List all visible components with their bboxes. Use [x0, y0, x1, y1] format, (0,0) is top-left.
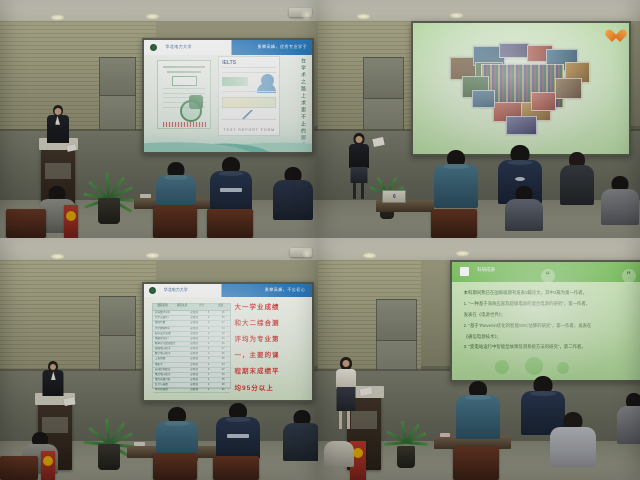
cert-subtitle-line [167, 71, 200, 73]
red-flag-banner [64, 205, 78, 238]
slide-header-university: 华北电力大学 [165, 44, 191, 50]
desk-papers [140, 194, 151, 198]
cell-course: 自动控制理论 [153, 368, 187, 372]
cell-credit: 2 [201, 388, 216, 392]
cell-credit: 4 [201, 337, 216, 341]
cell-credit: 5 [201, 311, 216, 315]
audience-chair [6, 209, 46, 238]
ceiling [318, 238, 640, 262]
cell-score: 96 [216, 337, 231, 341]
nameplate-number: 6 [393, 194, 396, 200]
col-header-type: 课程性质 [172, 304, 191, 310]
cell-course: 信号与系统 [153, 383, 187, 387]
hood-collar [530, 391, 556, 396]
photo-collage: 华北电力大学 勇攀高峰，优秀专业学子 [0, 0, 640, 480]
audience-torso [617, 406, 640, 444]
quote-line: 2. "基于Thevenin优化的智能SOC估算的研究"，第一作者，发表在 [464, 323, 636, 330]
audience-member [550, 412, 596, 480]
speaker-face [355, 136, 362, 143]
potted-plant [386, 376, 426, 468]
cert-barcode [163, 122, 206, 127]
cert-name-box [172, 76, 197, 86]
cell-score: 97 [216, 368, 231, 372]
wall-door-panel [376, 299, 417, 342]
hood-collar [164, 175, 188, 180]
highlight-line: 均95分以上 [235, 382, 306, 392]
hood-collar [465, 395, 491, 400]
doc-highlight-bar [222, 77, 247, 86]
hood-collar [164, 421, 189, 426]
speaker-shirt [336, 369, 356, 389]
collage-photo [555, 78, 582, 99]
plant-pot [98, 444, 120, 470]
cell-type: 必修课 [187, 373, 202, 377]
cell-credit: 3 [201, 352, 216, 356]
desk-papers [134, 442, 145, 446]
cell-score: 97 [216, 321, 231, 325]
hood-collar [443, 164, 469, 169]
speaker-male [45, 105, 71, 167]
bubble [557, 362, 569, 374]
ceiling-light [363, 253, 376, 258]
speaker-skirt [337, 387, 356, 411]
col-header-course: 课程名称 [153, 304, 172, 310]
collage-photo [531, 92, 556, 111]
desk-papers [440, 433, 450, 437]
cell-course: 工程制图 [153, 357, 187, 361]
slide-highlight-text: 大一学业成绩 和大二综合测 评均为专业第 一，主要的课 程期末成绩平 均95分以… [235, 301, 306, 392]
speaker-face [343, 360, 350, 367]
cell-type: 必修课 [187, 368, 202, 372]
audience-torso [550, 427, 596, 467]
speaker-face [54, 108, 61, 115]
speaker-male [41, 361, 65, 419]
cell-score: 95 [216, 378, 231, 382]
doc-rule [222, 67, 275, 68]
cell-score: 96 [216, 311, 231, 315]
cell-credit: 4 [201, 316, 216, 320]
cell-score: 98 [216, 332, 231, 336]
slide-header-tag: 勇攀高峰，优秀专业学子 [257, 44, 307, 50]
grade-table: 课程名称 课程性质 学分 成绩 高等数学A(1)必修课596 大学英语(1)必修… [152, 303, 232, 389]
cell-score: 95 [216, 357, 231, 361]
cell-credit: 4 [201, 378, 216, 382]
cell-type: 必修课 [187, 337, 202, 341]
photo-top-left: 华北电力大学 勇攀高峰，优秀专业学子 [0, 0, 318, 238]
banner-emblem-icon [353, 448, 363, 458]
cell-course: 程序设计基础 [153, 332, 187, 336]
cell-type: 选修课 [187, 388, 202, 392]
audience-member [560, 152, 594, 238]
panel-bottom-left: 华北电力大学 勇攀高峰，不忘初心 课程名称 课程性质 学分 成绩 高等数学A(1… [0, 238, 318, 480]
audience-chair [453, 446, 499, 480]
hood-collar [218, 171, 243, 176]
ceiling [0, 238, 318, 262]
topbar-square-icon [460, 267, 469, 276]
collage-photo [506, 116, 538, 135]
plant-pot [397, 446, 415, 468]
cell-type: 必修课 [187, 342, 202, 346]
cell-score: 95 [216, 316, 231, 320]
slide-quote-text: 科研成果 “ ” 本科期间我已在国家级期刊发表3篇论文，其中2篇为第一作者。 1… [452, 262, 640, 381]
cell-type: 必修课 [187, 352, 202, 356]
slide-photo-collage [413, 23, 629, 154]
heart-collage [444, 40, 599, 139]
heart-icon [604, 30, 620, 45]
photo-bottom-left: 华北电力大学 勇攀高峰，不忘初心 课程名称 课程性质 学分 成绩 高等数学A(1… [0, 238, 318, 480]
speaker-female [347, 133, 371, 228]
speaker-skirt [350, 167, 367, 183]
photo-bottom-right: 科研成果 “ ” 本科期间我已在国家级期刊发表3篇论文，其中2篇为第一作者。 1… [318, 238, 640, 480]
cell-credit: 4 [201, 363, 216, 367]
cell-course: 大学英语(1) [153, 316, 187, 320]
audience-torso [283, 423, 318, 461]
cell-score: 96 [216, 373, 231, 377]
cell-type: 必修课 [187, 321, 202, 325]
potted-plant [89, 378, 129, 470]
cell-score: 96 [216, 388, 231, 392]
audience-torso [434, 164, 478, 208]
audience-chair [431, 209, 477, 238]
speaker-leg [347, 411, 350, 429]
wall-door-panel [99, 57, 136, 97]
audience-torso [505, 199, 543, 231]
bubble [525, 357, 543, 375]
banner-emblem-icon [43, 456, 53, 466]
quote-line: 3. "变电站运行中智能型故障监测系统方法的研究"，第二作者。 [464, 344, 636, 351]
audience-chair [207, 209, 253, 238]
audience-member [505, 186, 543, 238]
collage-photo [499, 43, 529, 58]
speaker-leg [361, 183, 364, 199]
panel-top-left: 华北电力大学 勇攀高峰，优秀专业学子 [0, 0, 318, 238]
slide-grade-table: 华北电力大学 勇攀高峰，不忘初心 课程名称 课程性质 学分 成绩 高等数学A(1… [144, 284, 313, 400]
cell-course: 高等数学A(1) [153, 311, 187, 315]
cell-course: 数字电子技术 [153, 352, 187, 356]
projector-lamp-glow [300, 249, 315, 258]
ielts-report-document: IELTS TEST REPORT FORM [218, 56, 281, 136]
grade-table-header: 课程名称 课程性质 学分 成绩 [153, 304, 231, 311]
jacket-logo [515, 177, 525, 181]
speaker-leg [353, 183, 356, 199]
cell-course: 电机学 [153, 363, 187, 367]
audience-member [324, 441, 354, 480]
projector-mount [280, 5, 283, 10]
highlight-line: 一，主要的课 [235, 349, 306, 359]
cell-score: 94 [216, 363, 231, 367]
audience-torso [324, 441, 354, 467]
slide-wave-decoration [144, 132, 313, 152]
quote-line: 1. "一种基于海效应容及超级电容的混合电源的研究"，第一作者， [464, 301, 636, 308]
audience-torso [560, 165, 594, 205]
quote-line: 发表在《电源世界》； [464, 312, 636, 319]
cert-title-line [163, 66, 205, 68]
slide-certificate: 华北电力大学 勇攀高峰，优秀专业学子 [144, 40, 313, 152]
doc-rule [222, 119, 275, 120]
ceiling-light [51, 254, 64, 259]
cell-type: 必修课 [187, 316, 202, 320]
cell-course: 大学物理B(1) [153, 327, 187, 331]
cell-type: 必修课 [187, 383, 202, 387]
wall-door-panel [99, 296, 136, 337]
quote-open-icon: “ [541, 269, 555, 283]
audience-torso [216, 417, 260, 459]
audience-torso [456, 395, 500, 439]
slide-bubble-decoration [495, 357, 584, 376]
hood-collar [507, 160, 533, 165]
highlight-line: 程期末成绩平 [235, 365, 306, 375]
panel-top-right: 6 [318, 0, 640, 238]
red-flag-banner [41, 451, 55, 480]
audience-chair [213, 456, 259, 480]
cell-credit: 3 [201, 368, 216, 372]
cell-score: 98 [216, 383, 231, 387]
table-row: 单片机原理选修课296 [153, 388, 231, 393]
cell-type: 必修课 [187, 332, 202, 336]
projection-screen [411, 21, 631, 156]
jacket-logo [227, 434, 249, 438]
cell-type: 必修课 [187, 347, 202, 351]
cell-course: 电力系统分析 [153, 378, 187, 382]
audience-member [617, 393, 640, 475]
ielts-label: IELTS [222, 60, 236, 66]
ceiling-light [146, 253, 159, 258]
cell-score: 96 [216, 352, 231, 356]
cell-type: 必修课 [187, 378, 202, 382]
audience-torso [273, 180, 313, 220]
photo-top-right: 6 [318, 0, 640, 238]
audience-torso [601, 189, 639, 225]
doc-score-band [222, 97, 275, 108]
cell-score: 94 [216, 327, 231, 331]
cell-course: 模拟电子技术 [153, 347, 187, 351]
audience-chair [153, 205, 197, 238]
cell-type: 必修课 [187, 357, 202, 361]
cell-credit: 3 [201, 342, 216, 346]
highlight-line: 和大二综合测 [235, 317, 306, 327]
highlight-line: 大一学业成绩 [235, 301, 306, 311]
bubble [495, 360, 509, 374]
cell-score: 97 [216, 347, 231, 351]
quote-line: 《通信电源技术》； [464, 334, 636, 341]
audience-member [273, 167, 313, 238]
cell-type: 必修课 [187, 311, 202, 315]
cell-score: 95 [216, 342, 231, 346]
speaker-leg [339, 411, 342, 429]
cert-line [163, 93, 205, 94]
speaker-torso [349, 144, 369, 168]
cell-course: 电力电子技术 [153, 373, 187, 377]
cell-credit: 2 [201, 357, 216, 361]
wall-door-panel [363, 57, 404, 99]
cert-stamp-icon [180, 100, 202, 122]
cell-course: 单片机原理 [153, 388, 187, 392]
cell-credit: 3 [201, 383, 216, 387]
cell-course: 线性代数 [153, 321, 187, 325]
cell-type: 必修课 [187, 327, 202, 331]
quote-close-icon: ” [622, 269, 636, 283]
ceiling [318, 0, 640, 24]
collage-photo [472, 90, 496, 108]
ceiling [0, 0, 318, 24]
projection-screen: 华北电力大学 勇攀高峰，不忘初心 课程名称 课程性质 学分 成绩 高等数学A(1… [142, 282, 315, 402]
cert-line [163, 88, 205, 89]
col-header-credit: 学分 [192, 304, 211, 310]
cell-credit: 3 [201, 321, 216, 325]
jacket-logo [220, 188, 242, 192]
plant-pot [98, 198, 120, 224]
potted-plant [89, 129, 129, 224]
certificate-document [157, 60, 211, 129]
audience-chair [0, 456, 38, 480]
cell-course: 概率论与数理统计 [153, 342, 187, 346]
cell-course: 电路理论(1) [153, 337, 187, 341]
projection-screen: 华北电力大学 勇攀高峰，优秀专业学子 [142, 38, 315, 154]
cell-credit: 3 [201, 332, 216, 336]
audience-torso [210, 171, 252, 213]
projector-mount [280, 244, 283, 249]
banner-emblem-icon [66, 211, 76, 221]
cell-credit: 4 [201, 347, 216, 351]
audience-member [601, 176, 639, 238]
highlight-line: 评均为专业第 [235, 333, 306, 343]
cell-type: 必修课 [187, 363, 202, 367]
panel-bottom-right: 科研成果 “ ” 本科期间我已在国家级期刊发表3篇论文，其中2篇为第一作者。 1… [318, 238, 640, 480]
slide-body-text: 本科期间我已在国家级期刊发表3篇论文，其中2篇为第一作者。 1. "一种基于海效… [464, 290, 636, 355]
cell-credit: 4 [201, 327, 216, 331]
projection-screen: 科研成果 “ ” 本科期间我已在国家级期刊发表3篇论文，其中2篇为第一作者。 1… [450, 260, 640, 383]
quote-line: 本科期间我已在国家级期刊发表3篇论文，其中2篇为第一作者。 [464, 290, 636, 297]
hood-collar [226, 417, 251, 422]
doc-rule [222, 91, 275, 92]
table-nameplate: 6 [382, 190, 406, 203]
slide-header-tag: 勇攀高峰，不忘初心 [265, 287, 306, 293]
audience-chair [153, 453, 197, 480]
slide-topbar-title: 科研成果 [477, 267, 495, 273]
cell-credit: 3 [201, 373, 216, 377]
audience-member [283, 410, 318, 480]
col-header-score: 成绩 [211, 304, 230, 310]
projector-lamp-glow [299, 10, 315, 20]
slide-header-university: 华北电力大学 [164, 287, 188, 293]
